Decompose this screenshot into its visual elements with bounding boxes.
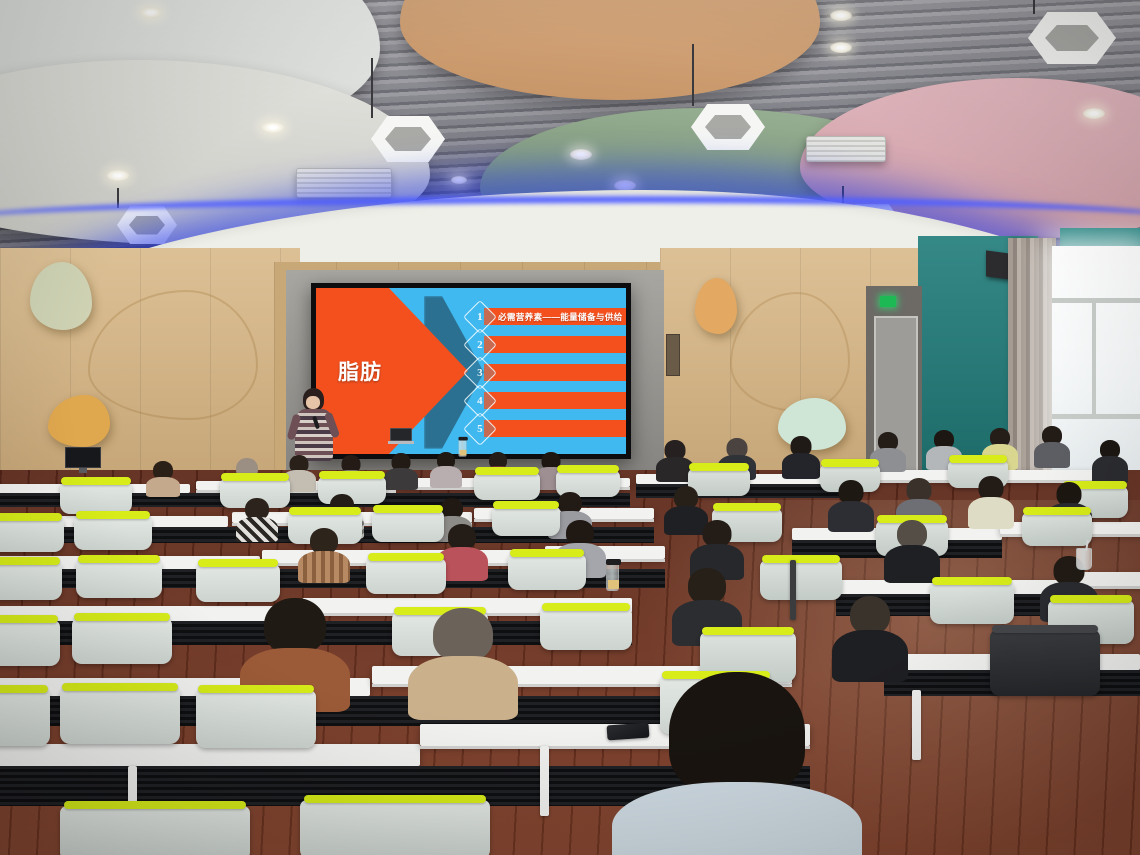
audience-person bbox=[828, 480, 874, 528]
chair[interactable] bbox=[76, 560, 162, 598]
slide-item-text: 必需营养素——能量储备与供给 bbox=[498, 311, 623, 323]
audience-person bbox=[1092, 440, 1128, 482]
badge-number: 4 bbox=[477, 395, 483, 407]
audience-person bbox=[384, 453, 418, 485]
ceiling-downlight bbox=[262, 122, 284, 133]
chair[interactable] bbox=[366, 558, 446, 594]
chair[interactable] bbox=[760, 560, 842, 600]
audience-person bbox=[236, 498, 278, 536]
slide-item-row: 1 必需营养素——能量储备与供给 bbox=[468, 305, 626, 328]
chair[interactable] bbox=[508, 554, 586, 590]
exit-sign-icon bbox=[880, 296, 896, 307]
lecture-hall-photo: 脂肪 1 必需营养素——能量储备与供给 2 3 bbox=[0, 0, 1140, 855]
slide-content: 脂肪 1 必需营养素——能量储备与供给 2 3 bbox=[316, 288, 626, 454]
audience-person bbox=[690, 520, 744, 574]
table-leg bbox=[540, 746, 549, 816]
ceiling-downlight bbox=[140, 7, 162, 18]
chair[interactable] bbox=[1022, 512, 1092, 546]
slide-item-list: 1 必需营养素——能量储备与供给 2 3 4 bbox=[468, 305, 626, 445]
slide-item-row: 2 bbox=[468, 333, 626, 356]
chair[interactable] bbox=[72, 618, 172, 664]
ceiling-downlight bbox=[830, 42, 852, 53]
audience-person bbox=[968, 476, 1014, 526]
chair[interactable] bbox=[474, 472, 540, 500]
chair[interactable] bbox=[0, 562, 62, 600]
presentation-screen: 脂肪 1 必需营养素——能量储备与供给 2 3 bbox=[311, 283, 631, 459]
chair[interactable] bbox=[0, 690, 50, 746]
chair[interactable] bbox=[196, 564, 280, 602]
wall-notice-board bbox=[666, 334, 680, 376]
chair[interactable] bbox=[372, 510, 444, 542]
chair[interactable] bbox=[492, 506, 560, 536]
ceiling-downlight bbox=[830, 10, 852, 21]
chair[interactable] bbox=[300, 800, 490, 855]
chair[interactable] bbox=[74, 516, 152, 550]
plastic-cup[interactable] bbox=[1076, 548, 1092, 570]
badge-number: 2 bbox=[477, 339, 483, 351]
slide-item-row: 3 bbox=[468, 361, 626, 384]
wall-speaker-icon bbox=[986, 250, 1010, 279]
glass-tea-bottle[interactable] bbox=[606, 563, 619, 591]
chair[interactable] bbox=[990, 630, 1100, 696]
chair[interactable] bbox=[0, 620, 60, 666]
badge-number: 1 bbox=[477, 311, 483, 323]
chair[interactable] bbox=[540, 608, 632, 650]
audience-person-foreground bbox=[612, 672, 862, 855]
audience-person bbox=[1034, 426, 1070, 466]
badge-number: 3 bbox=[477, 367, 483, 379]
presenter-face bbox=[306, 396, 320, 409]
audience-person bbox=[782, 436, 820, 476]
chair[interactable] bbox=[196, 690, 316, 748]
audience-person bbox=[408, 608, 518, 708]
badge-number: 5 bbox=[477, 423, 483, 435]
chair[interactable] bbox=[60, 806, 250, 855]
ceiling-downlight bbox=[107, 170, 129, 181]
chair[interactable] bbox=[930, 582, 1014, 624]
audience-person bbox=[240, 598, 350, 698]
audience-person bbox=[884, 520, 940, 578]
audience-person bbox=[298, 528, 350, 576]
blob-orange-icon bbox=[695, 278, 737, 334]
ceiling-downlight bbox=[570, 149, 592, 160]
table-leg bbox=[790, 560, 796, 620]
chair[interactable] bbox=[60, 482, 132, 514]
audience-person bbox=[430, 452, 462, 484]
desktop-monitor bbox=[65, 447, 101, 473]
slide-item-row: 4 bbox=[468, 389, 626, 412]
audience-person bbox=[146, 461, 180, 491]
table-leg bbox=[912, 690, 921, 760]
ceiling-downlight bbox=[1083, 108, 1105, 119]
slide-item-badge: 5 bbox=[463, 412, 497, 446]
laptop[interactable] bbox=[388, 428, 414, 445]
chair[interactable] bbox=[60, 688, 180, 744]
chair[interactable] bbox=[0, 518, 64, 552]
slide-heading: 脂肪 bbox=[338, 356, 382, 386]
slide-item-row: 5 bbox=[468, 417, 626, 440]
air-conditioner-unit bbox=[806, 136, 886, 162]
audience-person bbox=[832, 596, 908, 676]
